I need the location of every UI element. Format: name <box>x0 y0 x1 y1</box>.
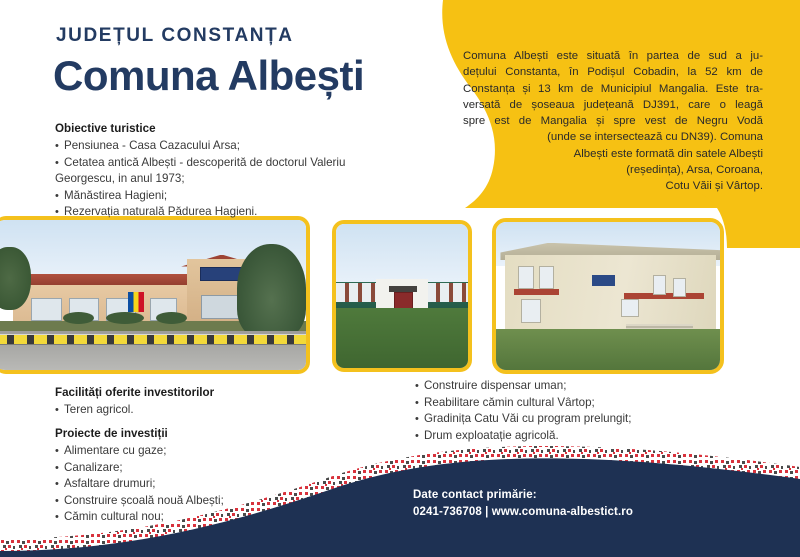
photo-window <box>539 266 554 289</box>
list-item: Mănăstirea Hagieni; <box>55 188 415 205</box>
contact-details[interactable]: 0241-736708 | www.comuna-albestict.ro <box>413 506 633 518</box>
intro-line-7: Albești este formată din satele Albești <box>463 146 763 162</box>
page-kicker: JUDEȚUL CONSTANȚA <box>56 25 294 47</box>
list-item: Teren agricol. <box>55 402 385 419</box>
photo-conifer-tree <box>237 244 306 337</box>
photo-awning <box>514 289 559 295</box>
photo-window <box>521 299 541 323</box>
photo-window <box>621 299 639 317</box>
section-tourism-list: Pensiunea - Casa Cazacului Arsa; Cetatea… <box>55 138 415 221</box>
list-item: Rezervația naturală Pădurea Hagieni. <box>55 204 415 221</box>
intro-line-3: Constanța și 13 km de Municipiul Mangali… <box>463 81 763 97</box>
photo-primaria <box>0 216 310 374</box>
photo-window <box>31 298 61 321</box>
photo-window <box>518 266 533 289</box>
intro-line-8: (reședința), Arsa, Coroana, <box>463 162 763 178</box>
section-tourism: Obiective turistice Pensiunea - Casa Caz… <box>55 122 415 221</box>
intro-line-4: versată de șoseaua județeană DJ391, care… <box>463 97 763 113</box>
photo-camin-cultural <box>492 218 724 374</box>
intro-line-9: Cotu Văii și Vârtop. <box>463 178 763 194</box>
poster-canvas: JUDEȚUL CONSTANȚA Comuna Albești Comuna … <box>0 0 800 557</box>
photo-bush <box>156 312 187 324</box>
intro-line-5: spre est de Mangalia și spre vest de Neg… <box>463 113 763 129</box>
list-item: Reabilitare cămin cultural Vârtop; <box>415 395 745 412</box>
list-item: Cetatea antică Albești - descoperită de … <box>55 155 415 172</box>
footer-contact: Date contact primărie: 0241-736708 | www… <box>413 489 633 518</box>
photo-kerb <box>0 334 306 345</box>
photo-grass-field <box>336 308 468 368</box>
section-facilities-list: Teren agricol. <box>55 402 385 419</box>
list-item: Pensiunea - Casa Cazacului Arsa; <box>55 138 415 155</box>
photo-window <box>673 278 686 296</box>
list-item: Construire dispensar uman; <box>415 378 745 395</box>
contact-title: Date contact primărie: <box>413 489 633 501</box>
intro-line-1: Comuna Albești este situată în partea de… <box>463 48 763 64</box>
photo-signboard <box>592 275 614 285</box>
list-item: Gradinița Catu Văi cu program prelungit; <box>415 411 745 428</box>
photo-bush <box>63 312 94 324</box>
photo-grass <box>496 329 720 370</box>
romanian-flag-icon <box>128 292 144 312</box>
section-facilities-heading: Facilități oferite investitorilor <box>55 386 385 399</box>
photo-bush <box>106 312 143 324</box>
intro-line-2: dețului Constanta, în Podișul Cobadin, l… <box>463 64 763 80</box>
photo-scoala <box>332 220 472 372</box>
footer-curve <box>0 427 800 557</box>
intro-paragraph: Comuna Albești este situată în partea de… <box>463 48 763 195</box>
intro-line-6: (unde se intersectează cu DN39). Comuna <box>463 129 763 145</box>
list-item: Georgescu, in anul 1973; <box>55 171 415 188</box>
photo-window <box>653 275 666 295</box>
page-title: Comuna Albești <box>53 52 364 100</box>
section-facilities: Facilități oferite investitorilor Teren … <box>55 386 385 419</box>
section-tourism-heading: Obiective turistice <box>55 122 415 135</box>
